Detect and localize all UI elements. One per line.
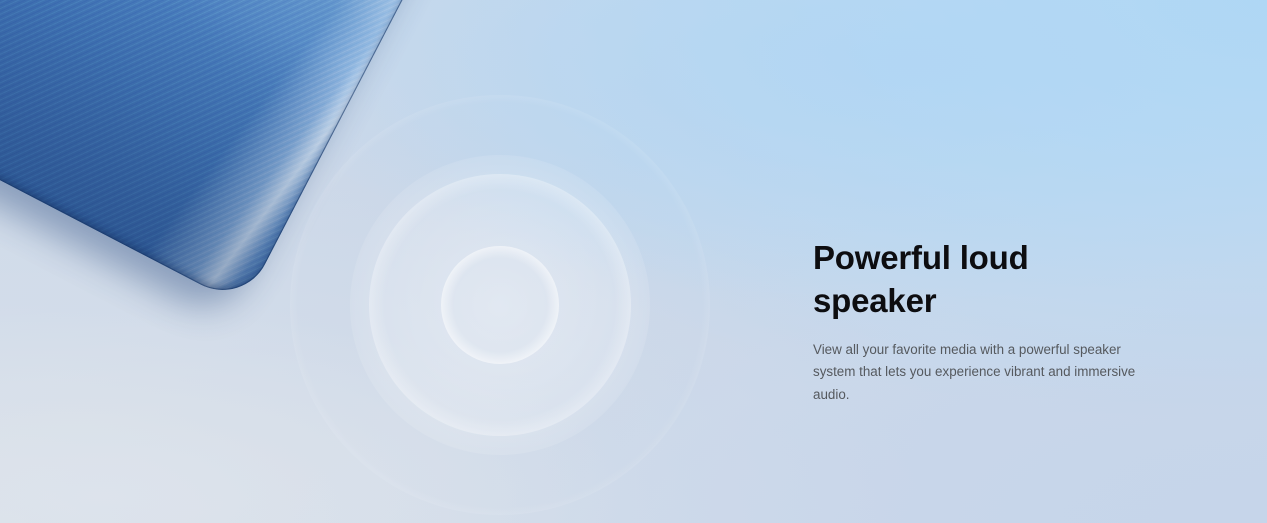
sound-wave-ring-inner: [441, 246, 559, 364]
marketing-copy-block: Powerful loud speaker View all your favo…: [813, 236, 1159, 406]
headline: Powerful loud speaker: [813, 236, 1081, 322]
powerful-loud-speaker-banner: Powerful loud speaker View all your favo…: [0, 0, 1267, 523]
body-text: View all your favorite media with a powe…: [813, 339, 1149, 406]
